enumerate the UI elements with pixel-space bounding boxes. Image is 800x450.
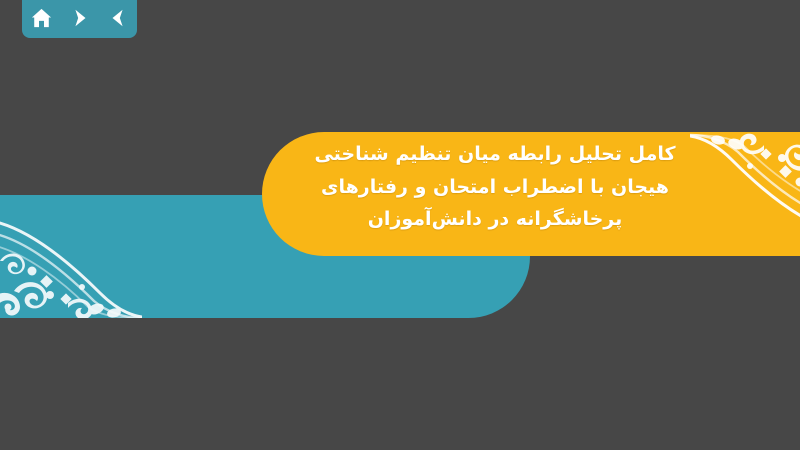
title-line-1: کامل تحلیل رابطه میان تنظیم شناختی [280,138,710,171]
triangle-left-icon [107,7,129,29]
next-button[interactable] [66,4,94,32]
title-line-3: پرخاشگرانه در دانش‌آموزان [280,203,710,236]
previous-button[interactable] [104,4,132,32]
home-button[interactable] [27,4,55,32]
presentation-slide: کامل تحلیل رابطه میان تنظیم شناختی هیجان… [0,0,800,450]
teal-arabesque-ornament-icon [0,203,142,318]
slide-title: کامل تحلیل رابطه میان تنظیم شناختی هیجان… [280,138,710,236]
navigation-bar [22,0,137,38]
home-icon [30,7,53,30]
triangle-right-icon [69,7,91,29]
title-line-2: هیجان با اضطراب امتحان و رفتارهای [280,171,710,204]
